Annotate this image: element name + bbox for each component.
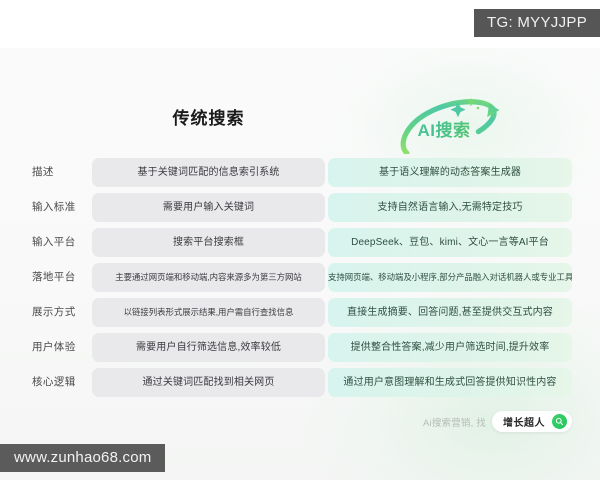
cell-ai: DeepSeek、豆包、kimi、文心一言等AI平台 bbox=[328, 228, 572, 257]
table-row: 输入平台 搜索平台搜索框 DeepSeek、豆包、kimi、文心一言等AI平台 bbox=[0, 228, 600, 257]
table-row: 核心逻辑 通过关键词匹配找到相关网页 通过用户意图理解和生成式回答提供知识性内容 bbox=[0, 368, 600, 397]
row-label: 展示方式 bbox=[32, 298, 76, 327]
row-label: 输入平台 bbox=[32, 228, 76, 257]
table-row: 展示方式 以链接列表形式展示结果,用户需自行查找信息 直接生成摘要、回答问题,甚… bbox=[0, 298, 600, 327]
table-row: 用户体验 需要用户自行筛选信息,效率较低 提供整合性答案,减少用户筛选时间,提升… bbox=[0, 333, 600, 362]
cell-ai: 支持网页端、移动端及小程序,部分产品融入对话机器人或专业工具 bbox=[328, 263, 572, 292]
table-row: 落地平台 主要通过网页端和移动端,内容来源多为第三方网站 支持网页端、移动端及小… bbox=[0, 263, 600, 292]
cell-traditional: 需要用户输入关键词 bbox=[92, 193, 325, 222]
heading-traditional-search: 传统搜索 bbox=[92, 104, 325, 129]
comparison-table: 描述 基于关键词匹配的信息索引系统 基于语义理解的动态答案生成器 输入标准 需要… bbox=[0, 158, 600, 403]
cell-traditional: 需要用户自行筛选信息,效率较低 bbox=[92, 333, 325, 362]
brand-pill[interactable]: 增长超人 bbox=[492, 411, 572, 432]
heading-ai-search-wrap: AI搜索 bbox=[328, 96, 572, 154]
heading-ai-search: AI搜索 bbox=[391, 116, 497, 141]
cell-ai: 提供整合性答案,减少用户筛选时间,提升效率 bbox=[328, 333, 572, 362]
cell-traditional: 基于关键词匹配的信息索引系统 bbox=[92, 158, 325, 187]
column-headings: 传统搜索 bbox=[0, 96, 600, 156]
cell-ai: 通过用户意图理解和生成式回答提供知识性内容 bbox=[328, 368, 572, 397]
cell-ai: 支持自然语言输入,无需特定技巧 bbox=[328, 193, 572, 222]
table-row: 输入标准 需要用户输入关键词 支持自然语言输入,无需特定技巧 bbox=[0, 193, 600, 222]
table-row: 描述 基于关键词匹配的信息索引系统 基于语义理解的动态答案生成器 bbox=[0, 158, 600, 187]
cell-traditional: 搜索平台搜索框 bbox=[92, 228, 325, 257]
cell-traditional: 主要通过网页端和移动端,内容来源多为第三方网站 bbox=[92, 263, 325, 292]
footer-brand: Ai搜索营销, 找 增长超人 bbox=[423, 411, 572, 432]
search-circle-icon bbox=[552, 414, 567, 429]
row-label: 落地平台 bbox=[32, 263, 76, 292]
telegram-watermark: TG: MYYJJPP bbox=[474, 9, 600, 37]
row-label: 用户体验 bbox=[32, 333, 76, 362]
footer-prefix-text: Ai搜索营销, 找 bbox=[423, 415, 486, 429]
cell-traditional: 以链接列表形式展示结果,用户需自行查找信息 bbox=[92, 298, 325, 327]
row-label: 核心逻辑 bbox=[32, 368, 76, 397]
cell-traditional: 通过关键词匹配找到相关网页 bbox=[92, 368, 325, 397]
row-label: 输入标准 bbox=[32, 193, 76, 222]
url-watermark: www.zunhao68.com bbox=[0, 444, 165, 472]
cell-ai: 基于语义理解的动态答案生成器 bbox=[328, 158, 572, 187]
comparison-card: 传统搜索 bbox=[0, 48, 600, 480]
cell-ai: 直接生成摘要、回答问题,甚至提供交互式内容 bbox=[328, 298, 572, 327]
brand-name: 增长超人 bbox=[503, 414, 545, 429]
row-label: 描述 bbox=[32, 158, 54, 187]
